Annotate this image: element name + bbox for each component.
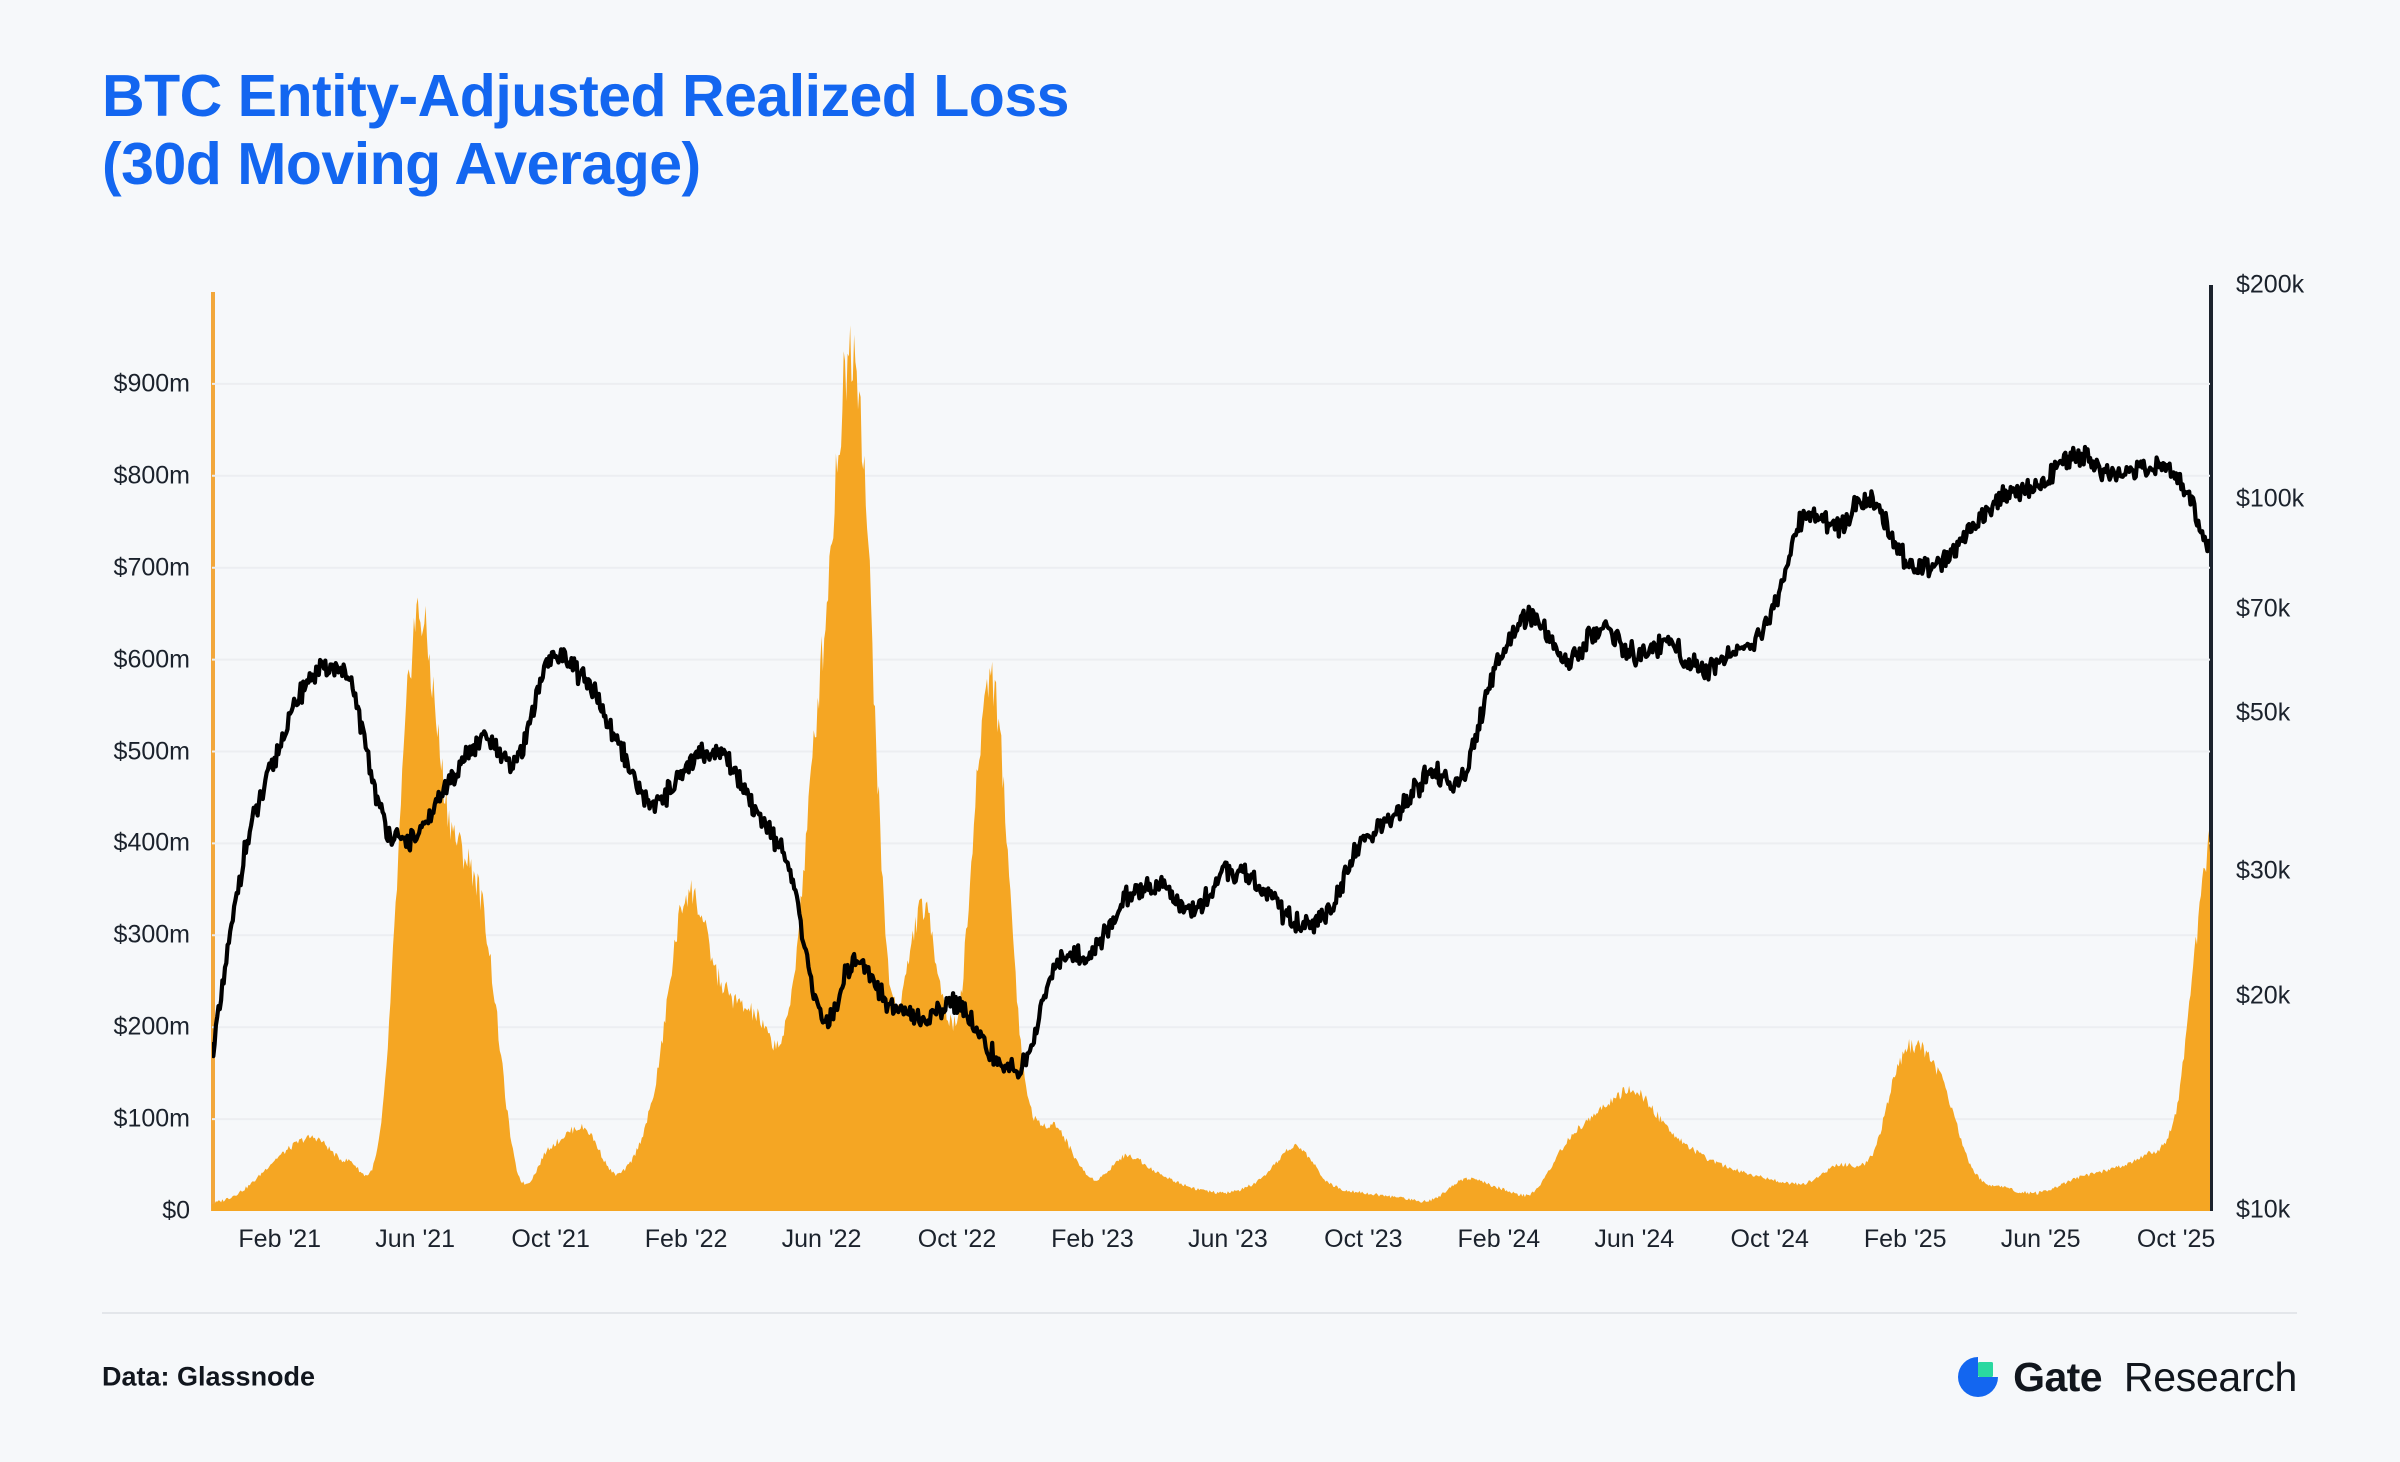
x-tick-label: Jun '22 xyxy=(782,1225,862,1254)
x-tick-label: Oct '22 xyxy=(918,1225,996,1254)
right-tick-label: $70k xyxy=(2236,595,2290,624)
left-tick-label: $500m xyxy=(40,737,190,766)
page-title: BTC Entity-Adjusted Realized Loss (30d M… xyxy=(102,62,1069,199)
data-source-label: Data: Glassnode xyxy=(102,1362,315,1393)
brand-name: Gate xyxy=(2013,1357,2102,1398)
gridlines xyxy=(212,384,2210,1119)
gate-logo-icon xyxy=(1955,1354,2001,1400)
brand-suffix: Research xyxy=(2124,1357,2297,1398)
x-tick-label: Oct '21 xyxy=(511,1225,589,1254)
left-tick-label: $700m xyxy=(40,553,190,582)
x-tick-label: Feb '22 xyxy=(645,1225,728,1254)
x-tick-label: Jun '25 xyxy=(2001,1225,2081,1254)
left-tick-label: $100m xyxy=(40,1105,190,1134)
left-tick-label: $400m xyxy=(40,829,190,858)
x-tick-label: Oct '23 xyxy=(1324,1225,1402,1254)
left-tick-label: $800m xyxy=(40,461,190,490)
x-tick-label: Feb '24 xyxy=(1458,1225,1541,1254)
right-tick-label: $100k xyxy=(2236,485,2304,514)
left-tick-label: $900m xyxy=(40,369,190,398)
chart-page: BTC Entity-Adjusted Realized Loss (30d M… xyxy=(0,0,2400,1462)
right-tick-label: $200k xyxy=(2236,271,2304,300)
x-tick-label: Oct '25 xyxy=(2137,1225,2215,1254)
chart-container: $0$100m$200m$300m$400m$500m$600m$700m$80… xyxy=(0,250,2400,1210)
x-tick-label: Jun '21 xyxy=(375,1225,455,1254)
right-tick-label: $30k xyxy=(2236,856,2290,885)
right-tick-label: $10k xyxy=(2236,1196,2290,1225)
x-tick-label: Oct '24 xyxy=(1731,1225,1809,1254)
x-tick-label: Feb '25 xyxy=(1864,1225,1947,1254)
left-tick-label: $0 xyxy=(40,1197,190,1226)
right-tick-label: $50k xyxy=(2236,699,2290,728)
left-tick-label: $200m xyxy=(40,1013,190,1042)
x-tick-label: Feb '23 xyxy=(1051,1225,1134,1254)
x-tick-label: Jun '23 xyxy=(1188,1225,1268,1254)
left-tick-label: $600m xyxy=(40,645,190,674)
x-tick-label: Jun '24 xyxy=(1594,1225,1674,1254)
x-tick-label: Feb '21 xyxy=(238,1225,321,1254)
footer-divider xyxy=(102,1312,2297,1314)
brand-lockup: Gate Research xyxy=(1955,1354,2297,1400)
btc-price-line xyxy=(212,447,2210,1078)
right-tick-label: $20k xyxy=(2236,981,2290,1010)
left-tick-label: $300m xyxy=(40,921,190,950)
